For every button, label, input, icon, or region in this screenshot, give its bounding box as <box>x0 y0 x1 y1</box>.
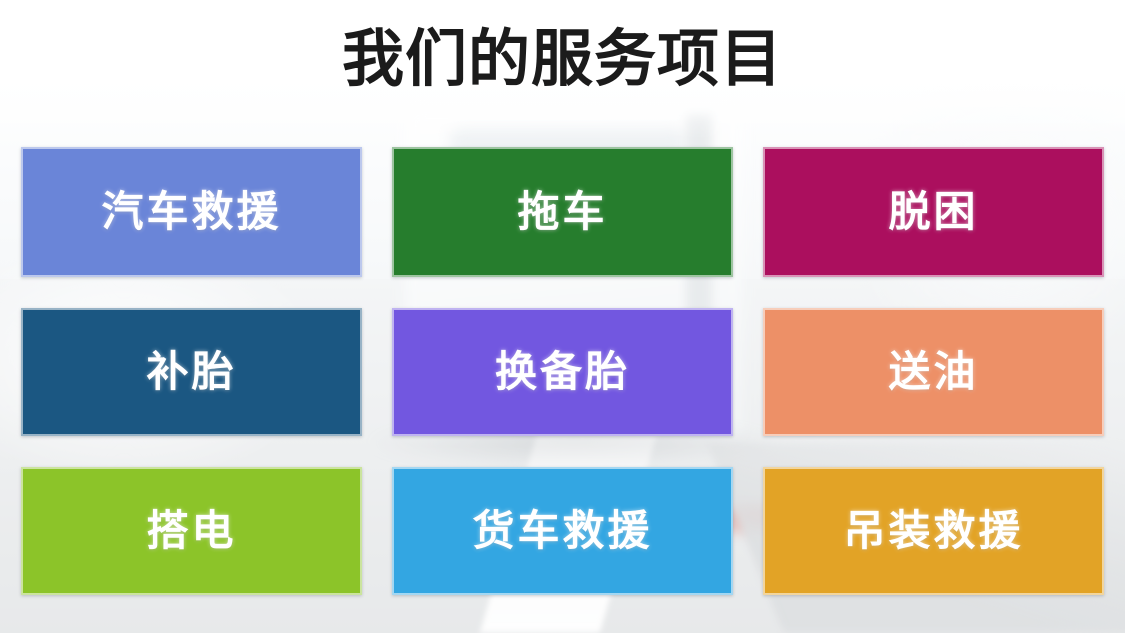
page-title: 我们的服务项目 <box>342 28 783 90</box>
service-tile-label: 拖车 <box>517 191 607 233</box>
service-tile-spare-tire-change[interactable]: 换备胎 <box>392 308 733 436</box>
service-grid: 汽车救援 拖车 脱困 补胎 换备胎 送油 搭电 货车救援 吊装救援 <box>21 147 1104 615</box>
service-tile-towing[interactable]: 拖车 <box>392 147 733 277</box>
service-tile-label: 补胎 <box>146 351 236 393</box>
service-tile-extrication[interactable]: 脱困 <box>763 147 1104 277</box>
service-tile-jump-start[interactable]: 搭电 <box>21 467 362 595</box>
title-bar: 我们的服务项目 <box>0 0 1125 118</box>
service-tile-label: 汽车救援 <box>101 191 281 233</box>
service-tile-fuel-delivery[interactable]: 送油 <box>763 308 1104 436</box>
service-tile-label: 吊装救援 <box>843 510 1023 552</box>
service-tile-label: 搭电 <box>146 510 236 552</box>
service-tile-truck-rescue[interactable]: 货车救援 <box>392 467 733 595</box>
service-tile-crane-rescue[interactable]: 吊装救援 <box>763 467 1104 595</box>
service-tile-tire-repair[interactable]: 补胎 <box>21 308 362 436</box>
service-tile-label: 送油 <box>888 351 978 393</box>
service-poster: 我们的服务项目 汽车救援 拖车 脱困 补胎 换备胎 送油 搭电 货车救援 吊装救… <box>0 0 1125 633</box>
service-tile-label: 换备胎 <box>495 351 630 393</box>
service-tile-label: 脱困 <box>888 191 978 233</box>
service-tile-label: 货车救援 <box>472 510 652 552</box>
service-tile-car-rescue[interactable]: 汽车救援 <box>21 147 362 277</box>
